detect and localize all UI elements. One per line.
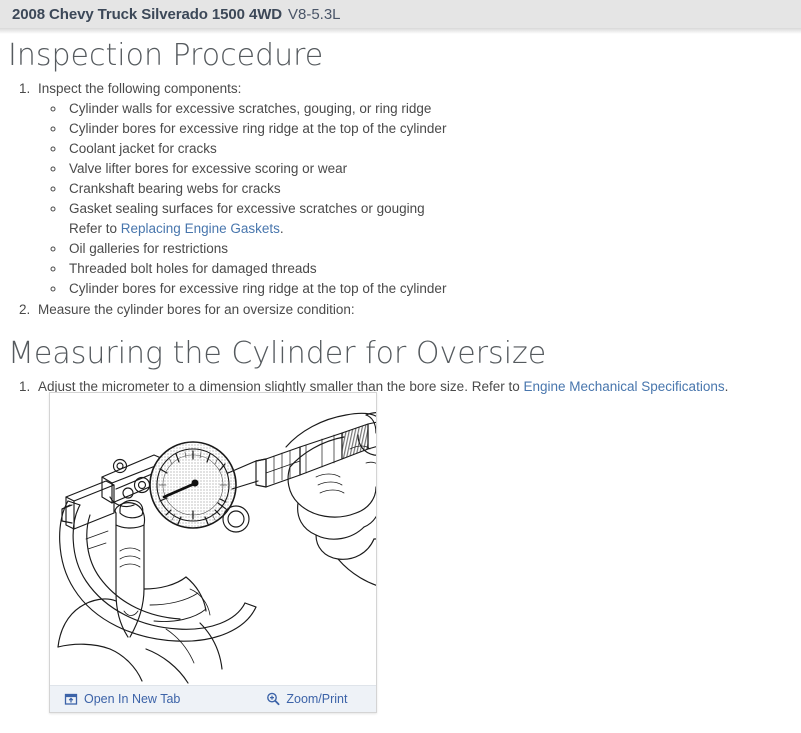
list-item: Cylinder bores for excessive ring ridge … (66, 119, 801, 139)
vehicle-engine: V8-5.3L (288, 6, 341, 23)
page-title-inspection-procedure: Inspection Procedure (8, 38, 801, 73)
open-in-new-tab-label: Open In New Tab (84, 692, 180, 706)
period: . (280, 221, 284, 236)
list-item: Measure the cylinder bores for an oversi… (34, 300, 801, 320)
list-item: Coolant jacket for cracks (66, 139, 801, 159)
list-item: Threaded bolt holes for damaged threads (66, 259, 801, 279)
list-item: Cylinder walls for excessive scratches, … (66, 99, 801, 119)
list-item: Cylinder bores for excessive ring ridge … (66, 279, 801, 299)
zoom-print-button[interactable]: Zoom/Print (266, 692, 347, 706)
list-item: Inspect the following components: Cylind… (34, 79, 801, 299)
vehicle-title: 2008 Chevy Truck Silverado 1500 4WD (12, 6, 282, 23)
gasket-reference-line: Refer to Replacing Engine Gaskets. (69, 219, 801, 239)
step-text: Inspect the following components: (38, 81, 241, 96)
list-item: Crankshaft bearing webs for cracks (66, 179, 801, 199)
figure-panel: Open In New Tab Zoom/Print (49, 392, 377, 713)
document-content: Inspection Procedure Inspect the followi… (0, 34, 801, 398)
period: . (725, 379, 729, 394)
micrometer-illustration-svg (50, 393, 376, 686)
vehicle-header-bar: 2008 Chevy Truck Silverado 1500 4WD V8-5… (0, 0, 801, 28)
list-item: Valve lifter bores for excessive scoring… (66, 159, 801, 179)
open-in-new-tab-icon (64, 692, 78, 706)
open-in-new-tab-button[interactable]: Open In New Tab (64, 692, 180, 706)
zoom-in-magnifier-icon (266, 692, 280, 706)
list-item-gasket: Gasket sealing surfaces for excessive sc… (66, 199, 801, 239)
inspection-steps-list: Inspect the following components: Cylind… (0, 79, 801, 320)
components-sublist: Cylinder walls for excessive scratches, … (38, 99, 801, 299)
zoom-print-label: Zoom/Print (286, 692, 347, 706)
link-engine-mechanical-specifications[interactable]: Engine Mechanical Specifications (523, 379, 724, 394)
page-title-measuring-cylinder: Measuring the Cylinder for Oversize (8, 336, 801, 371)
list-item: Oil galleries for restrictions (66, 239, 801, 259)
figure-illustration[interactable] (50, 393, 376, 686)
list-item-text: Gasket sealing surfaces for excessive sc… (69, 201, 425, 216)
refer-to-label: Refer to (69, 221, 121, 236)
figure-footer-toolbar: Open In New Tab Zoom/Print (50, 685, 376, 712)
link-replacing-engine-gaskets[interactable]: Replacing Engine Gaskets (121, 221, 280, 236)
